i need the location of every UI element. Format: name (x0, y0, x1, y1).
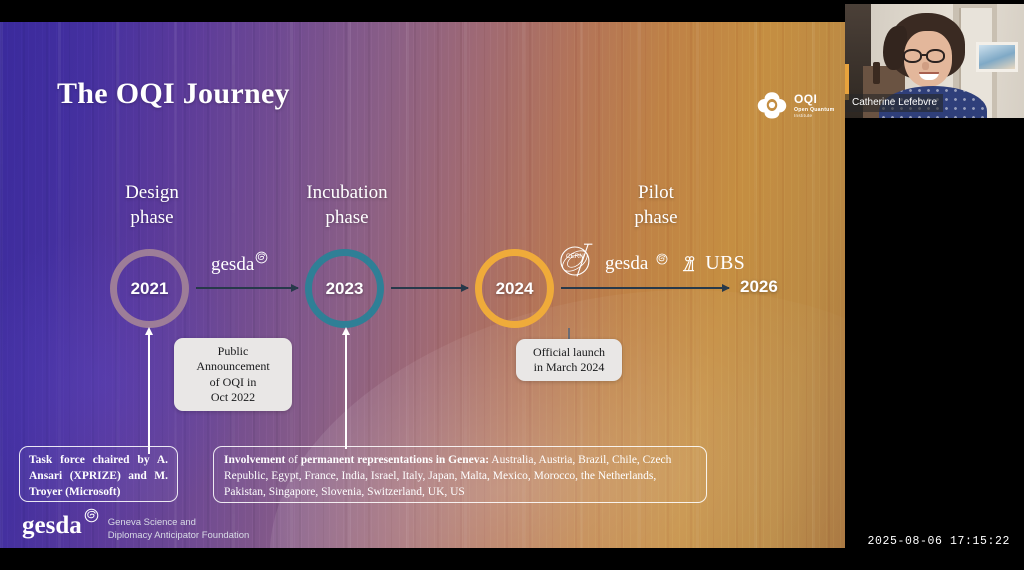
callout-involvement: Involvement of permanent representations… (213, 446, 707, 503)
webcam-picture-frame (976, 42, 1018, 72)
gesda-wordmark-partner: gesda (605, 254, 648, 273)
oqi-logo-text: OQI Open Quantum Institute (794, 91, 834, 118)
participant-name-label: Catherine Lefebvre (845, 94, 943, 112)
gesda-spiral-icon (255, 251, 268, 264)
webcam-tile[interactable]: Catherine Lefebvre (845, 4, 1024, 118)
timeline-milestone-2024: 2024 (475, 249, 554, 328)
gesda-footer-tagline: Geneva Science and Diplomacy Anticipator… (108, 517, 250, 543)
gesda-spiral-icon-partner (656, 253, 668, 265)
oqi-quatrefoil-icon (757, 90, 787, 120)
svg-text:CERN: CERN (566, 253, 584, 260)
callout-public-announcement: Public Announcement of OQI in Oct 2022 (174, 338, 292, 411)
timestamp: 2025-08-06 17:15:22 (867, 535, 1010, 548)
involvement-mid: of (288, 454, 298, 466)
presentation-slide: The OQI Journey OQI Open Quantum Institu… (0, 22, 845, 548)
gesda-spiral-icon-footer (84, 508, 99, 523)
cern-logo-icon: CERN (556, 240, 598, 282)
oqi-logo-name: OQI (794, 92, 817, 106)
involvement-bold2: permanent representations in Geneva: (301, 454, 489, 466)
callout-task-force: Task force chaired by A. Ansari (XPRIZE)… (19, 446, 178, 502)
phase-label-incubation: Incubation phase (284, 180, 410, 231)
ubs-wordmark: UBS (705, 253, 745, 273)
gesda-footer-logo: gesda Geneva Science and Diplomacy Antic… (22, 513, 249, 543)
gesda-wordmark: gesda (211, 255, 254, 274)
phase-label-design: Design phase (106, 180, 198, 231)
timeline-connector-3 (561, 287, 729, 289)
partner-logos: CERN gesda UBS (556, 244, 745, 282)
oqi-logo-line2: Institute (794, 114, 834, 119)
pointer-line-2021 (148, 334, 150, 454)
webcam-bottle (873, 62, 880, 84)
gesda-footer-wordmark: gesda (22, 513, 82, 538)
webcam-nose (922, 62, 929, 70)
pointer-line-2023 (345, 334, 347, 449)
glasses-left-lens (903, 49, 922, 63)
callout-official-launch: Official launch in March 2024 (516, 339, 622, 381)
phase-label-pilot: Pilot phase (610, 180, 702, 231)
glasses-right-lens (926, 49, 945, 63)
timeline-end-year: 2026 (740, 277, 778, 297)
timeline-milestone-2021: 2021 (110, 249, 189, 328)
ubs-keys-icon (679, 254, 698, 273)
oqi-logo: OQI Open Quantum Institute (757, 90, 834, 120)
gesda-logo-midline: gesda (211, 255, 268, 274)
gesda-tagline-line2: Diplomacy Anticipator Foundation (108, 530, 250, 543)
screen: The OQI Journey OQI Open Quantum Institu… (0, 0, 1024, 570)
slide-title: The OQI Journey (57, 77, 290, 111)
timeline-connector-2 (391, 287, 468, 289)
timeline-milestone-2023: 2023 (305, 249, 384, 328)
timeline-connector-1 (196, 287, 298, 289)
involvement-lead: Involvement (224, 454, 285, 466)
gesda-tagline-line1: Geneva Science and (108, 517, 250, 530)
webcam-glasses (903, 49, 953, 63)
